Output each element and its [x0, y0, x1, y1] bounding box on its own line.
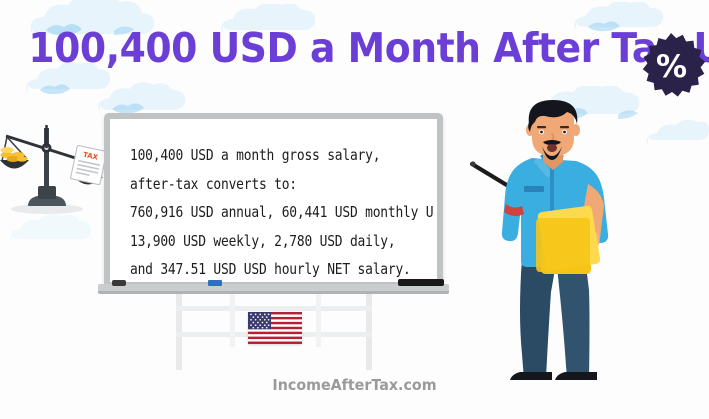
eraser-icon [112, 280, 126, 286]
poster-canvas: 100,400 USD a Month After Tax US % [0, 0, 709, 419]
folder-icon [536, 206, 600, 274]
whiteboard-tray [98, 284, 449, 293]
board-line-2: after-tax converts to: [130, 171, 420, 200]
whiteboard-text: 100,400 USD a month gross salary, after-… [130, 142, 420, 279]
percent-symbol: % [636, 32, 706, 102]
presenter-illustration [470, 100, 645, 380]
cloud-right-low [636, 120, 709, 156]
site-footer: IncomeAfterTax.com [18, 376, 692, 394]
tax-document-icon: TAX [70, 145, 106, 184]
us-flag-icon [248, 312, 302, 344]
page-title: 100,400 USD a Month After Tax US [28, 24, 680, 72]
balance-scales-icon: TAX [0, 108, 112, 220]
black-marker-icon [398, 279, 444, 286]
board-line-1: 100,400 USD a month gross salary, [130, 142, 420, 171]
whiteboard: 100,400 USD a month gross salary, after-… [104, 113, 443, 288]
blue-marker-icon [208, 280, 222, 286]
board-line-4: 13,900 USD weekly, 2,780 USD daily, [130, 228, 420, 257]
whiteboard-surface: 100,400 USD a month gross salary, after-… [113, 122, 434, 279]
cloud-bottom-left [0, 214, 110, 254]
percent-badge: % [636, 32, 706, 102]
board-line-5: and 347.51 USD USD hourly NET salary. [130, 256, 420, 279]
board-line-3: 760,916 USD annual, 60,441 USD monthly U… [130, 199, 420, 228]
